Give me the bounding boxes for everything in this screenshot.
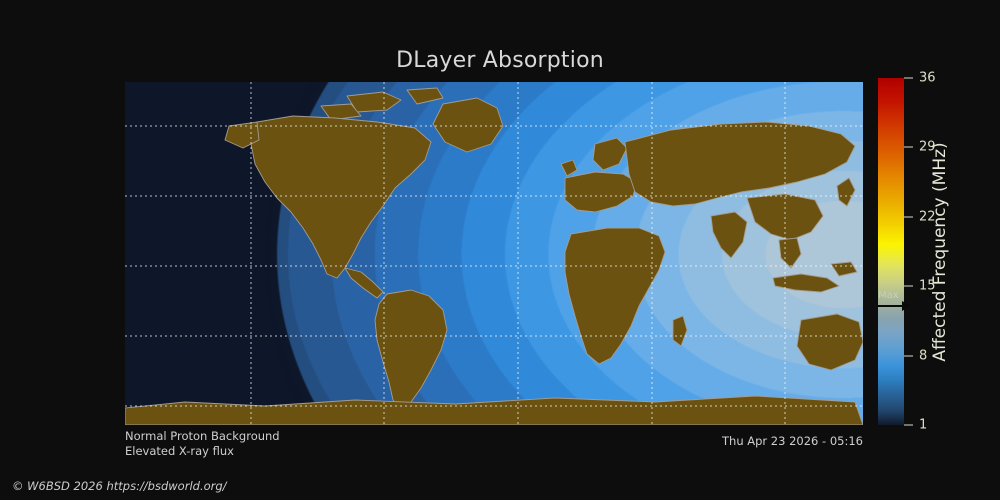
footer-credit: © W6BSD 2026 https://bsdworld.org/ (12, 479, 227, 493)
graticule-layer (125, 82, 863, 425)
timestamp: Thu Apr 23 2026 - 05:16 (722, 434, 863, 448)
xray-status-text: Elevated X-ray flux (125, 444, 280, 459)
colorbar-axis-label: Affected Frequency (MHz) (925, 82, 955, 422)
colorbar-tick: 1 (904, 418, 927, 433)
page-title: DLayer Absorption (0, 48, 1000, 73)
proton-status-text: Normal Proton Background (125, 429, 280, 444)
colorbar-tick: 8 (904, 348, 927, 363)
world-map[interactable] (125, 82, 863, 425)
colorbar-gradient (878, 78, 904, 425)
colorbar[interactable]: Max 36 29 22 15 8 1 (878, 78, 904, 425)
space-weather-status: Normal Proton Background Elevated X-ray … (125, 429, 280, 459)
